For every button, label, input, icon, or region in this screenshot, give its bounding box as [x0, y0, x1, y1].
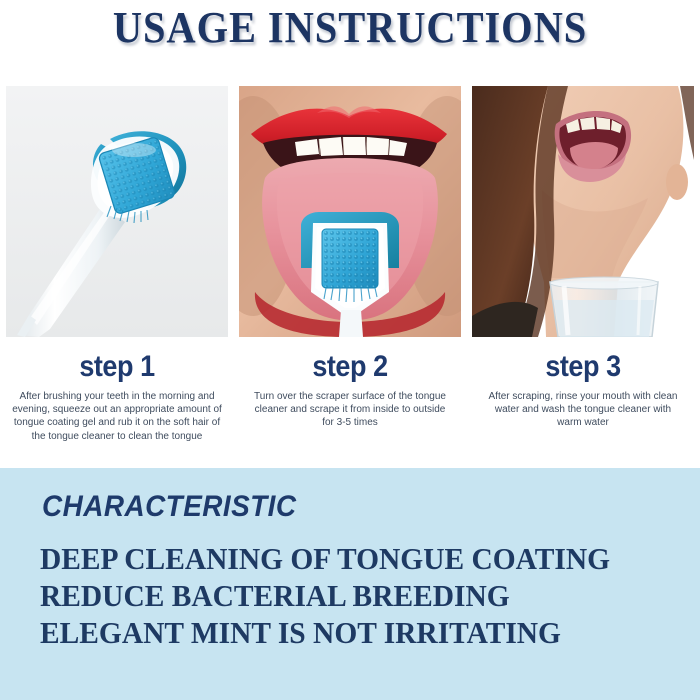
step-description: After brushing your teeth in the morning… [6, 390, 228, 443]
characteristic-line: DEEP CLEANING OF TONGUE COATING [40, 540, 648, 577]
characteristic-line: ELEGANT MINT IS NOT IRRITATING [40, 614, 648, 651]
page-title: USAGE INSTRUCTIONS [28, 2, 672, 54]
tongue-cleaner-product-photo [6, 86, 228, 337]
characteristic-line: REDUCE BACTERIAL BREEDING [40, 577, 648, 614]
tongue-scraping-photo [239, 86, 461, 337]
characteristic-list: DEEP CLEANING OF TONGUE COATING REDUCE B… [40, 540, 680, 651]
step-card-3: step 3 After scraping, rinse your mouth … [472, 86, 694, 430]
step-card-1: step 1 After brushing your teeth in the … [6, 86, 228, 443]
characteristic-panel: CHARACTERISTIC DEEP CLEANING OF TONGUE C… [0, 468, 700, 700]
usage-instructions-infographic: USAGE INSTRUCTIONS [0, 0, 700, 700]
characteristic-heading: CHARACTERISTIC [42, 490, 297, 524]
step-description: After scraping, rinse your mouth with cl… [472, 390, 694, 430]
step-card-2: step 2 Turn over the scraper surface of … [239, 86, 461, 430]
step-description: Turn over the scraper surface of the ton… [239, 390, 461, 430]
step-label: step 2 [250, 351, 450, 383]
rinsing-mouth-photo [472, 86, 694, 337]
step-label: step 1 [17, 351, 217, 383]
steps-row: step 1 After brushing your teeth in the … [0, 86, 700, 466]
step-label: step 3 [483, 351, 683, 383]
